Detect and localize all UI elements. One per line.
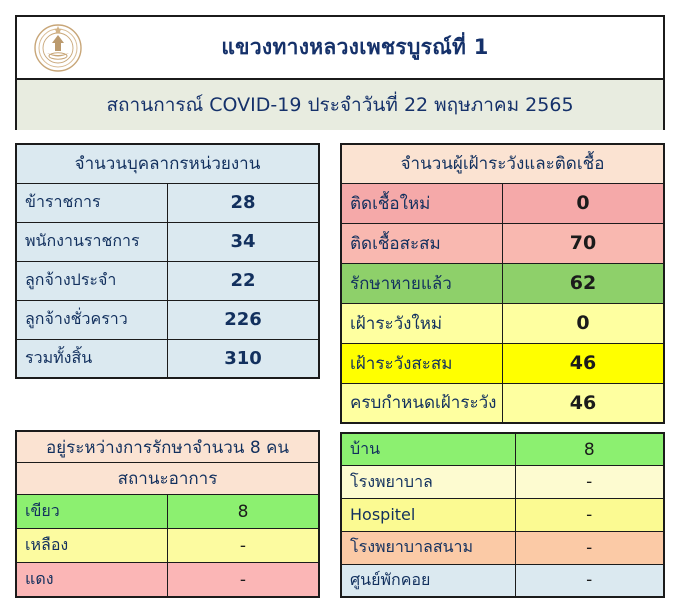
- covid-row-value: 70: [503, 223, 665, 263]
- table-row: พนักงานราชการ 34: [16, 222, 319, 261]
- staff-row-label: ข้าราชการ: [16, 183, 168, 222]
- table-row: เฝ้าระวังสะสม 46: [341, 343, 664, 383]
- department-of-highways-emblem-icon: [33, 23, 83, 73]
- table-row: ครบกำหนดเฝ้าระวัง 46: [341, 383, 664, 423]
- staff-row-value: 226: [168, 300, 320, 339]
- table-row: ติดเชื้อใหม่ 0: [341, 183, 664, 223]
- surveillance-and-infection-table: จำนวนผู้เฝ้าระวังและติดเชื้อ ติดเชื้อใหม…: [340, 143, 665, 424]
- location-row-label: บ้าน: [341, 433, 515, 466]
- covid-row-value: 46: [503, 383, 665, 423]
- treatment-location-table: บ้าน 8 โรงพยาบาล - Hospitel - โรงพยาบาลส…: [340, 432, 665, 598]
- location-row-label: โรงพยาบาล: [341, 466, 515, 499]
- staff-row-value: 28: [168, 183, 320, 222]
- status-table-title: อยู่ระหว่างการรักษาจำนวน 8 คน: [16, 431, 319, 463]
- table-row: เฝ้าระวังใหม่ 0: [341, 303, 664, 343]
- table-row: รวมทั้งสิ้น 310: [16, 339, 319, 378]
- table-header-row: จำนวนผู้เฝ้าระวังและติดเชื้อ: [341, 144, 664, 183]
- location-row-label: โรงพยาบาลสนาม: [341, 531, 515, 564]
- staff-row-label: รวมทั้งสิ้น: [16, 339, 168, 378]
- page-title: แขวงทางหลวงเพชรบูรณ์ที่ 1: [17, 31, 663, 64]
- table-row: เขียว 8: [16, 495, 319, 529]
- table-row: ลูกจ้างประจำ 22: [16, 261, 319, 300]
- covid-row-label: ติดเชื้อใหม่: [341, 183, 503, 223]
- table-row: โรงพยาบาลสนาม -: [341, 531, 664, 564]
- staff-table-title: จำนวนบุคลากรหน่วยงาน: [16, 144, 319, 183]
- location-row-value: -: [515, 466, 664, 499]
- status-row-label: แดง: [16, 563, 168, 597]
- covid-row-label: เฝ้าระวังสะสม: [341, 343, 503, 383]
- location-row-value: -: [515, 564, 664, 597]
- staff-row-label: ลูกจ้างประจำ: [16, 261, 168, 300]
- staff-row-value: 310: [168, 339, 320, 378]
- table-row: ติดเชื้อสะสม 70: [341, 223, 664, 263]
- table-row: เหลือง -: [16, 529, 319, 563]
- under-treatment-status-table: อยู่ระหว่างการรักษาจำนวน 8 คน สถานะอาการ…: [15, 430, 320, 598]
- covid-row-label: ครบกำหนดเฝ้าระวัง: [341, 383, 503, 423]
- page-subtitle: สถานการณ์ COVID-19 ประจำวันที่ 22 พฤษภาค…: [17, 80, 663, 130]
- status-row-label: เหลือง: [16, 529, 168, 563]
- table-row: ข้าราชการ 28: [16, 183, 319, 222]
- table-header-row: อยู่ระหว่างการรักษาจำนวน 8 คน: [16, 431, 319, 463]
- table-row: โรงพยาบาล -: [341, 466, 664, 499]
- location-row-label: ศูนย์พักคอย: [341, 564, 515, 597]
- status-table-subtitle: สถานะอาการ: [16, 463, 319, 495]
- covid-row-label: รักษาหายแล้ว: [341, 263, 503, 303]
- covid-row-value: 0: [503, 183, 665, 223]
- location-row-value: -: [515, 499, 664, 532]
- location-row-value: -: [515, 531, 664, 564]
- dashboard-page: แขวงทางหลวงเพชรบูรณ์ที่ 1 สถานการณ์ COVI…: [0, 0, 681, 612]
- staff-row-value: 22: [168, 261, 320, 300]
- status-row-value: -: [168, 529, 320, 563]
- table-row: แดง -: [16, 563, 319, 597]
- status-row-value: 8: [168, 495, 320, 529]
- staff-row-label: ลูกจ้างชั่วคราว: [16, 300, 168, 339]
- staff-row-label: พนักงานราชการ: [16, 222, 168, 261]
- staff-row-value: 34: [168, 222, 320, 261]
- table-row: ลูกจ้างชั่วคราว 226: [16, 300, 319, 339]
- status-row-value: -: [168, 563, 320, 597]
- status-row-label: เขียว: [16, 495, 168, 529]
- covid-row-value: 46: [503, 343, 665, 383]
- covid-row-label: ติดเชื้อสะสม: [341, 223, 503, 263]
- table-row: บ้าน 8: [341, 433, 664, 466]
- location-row-label: Hospitel: [341, 499, 515, 532]
- table-subheader-row: สถานะอาการ: [16, 463, 319, 495]
- table-row: Hospitel -: [341, 499, 664, 532]
- table-row: ศูนย์พักคอย -: [341, 564, 664, 597]
- covid-row-label: เฝ้าระวังใหม่: [341, 303, 503, 343]
- covid-table-title: จำนวนผู้เฝ้าระวังและติดเชื้อ: [341, 144, 664, 183]
- header-panel: แขวงทางหลวงเพชรบูรณ์ที่ 1 สถานการณ์ COVI…: [15, 15, 665, 130]
- location-row-value: 8: [515, 433, 664, 466]
- table-header-row: จำนวนบุคลากรหน่วยงาน: [16, 144, 319, 183]
- header-title-bar: แขวงทางหลวงเพชรบูรณ์ที่ 1: [17, 17, 663, 80]
- staff-count-table: จำนวนบุคลากรหน่วยงาน ข้าราชการ 28 พนักงา…: [15, 143, 320, 379]
- table-row: รักษาหายแล้ว 62: [341, 263, 664, 303]
- covid-row-value: 62: [503, 263, 665, 303]
- covid-row-value: 0: [503, 303, 665, 343]
